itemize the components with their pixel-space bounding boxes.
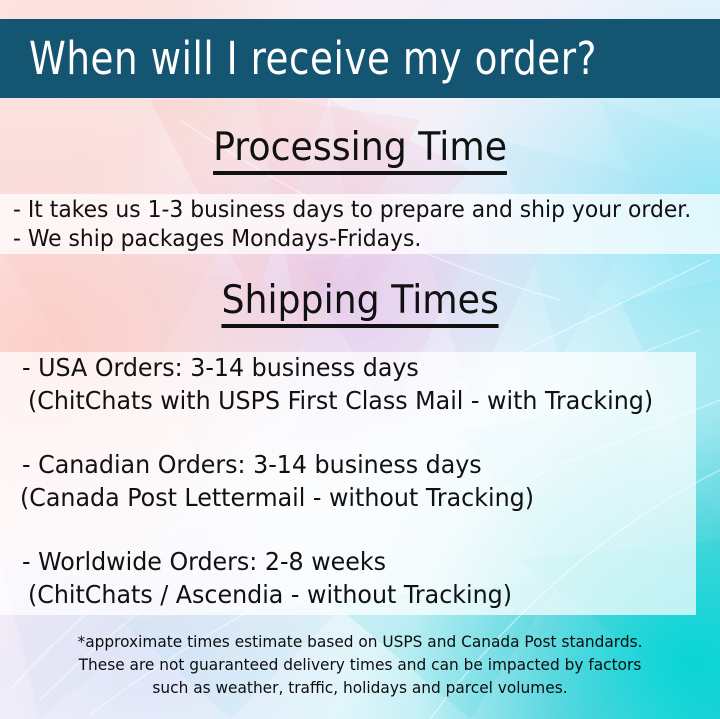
shipping-info-graphic: When will I receive my order? Processing… bbox=[0, 0, 720, 719]
shipping-canada-title: - Canadian Orders: 3-14 business days bbox=[22, 452, 482, 477]
footer-disclaimer: *approximate times estimate based on USP… bbox=[0, 630, 720, 699]
section-heading-processing-time: Processing Time bbox=[0, 128, 720, 175]
processing-time-line-1: - It takes us 1-3 business days to prepa… bbox=[13, 199, 691, 222]
footer-disclaimer-line-2: These are not guaranteed delivery times … bbox=[14, 653, 705, 676]
shipping-usa-detail: (ChitChats with USPS First Class Mail - … bbox=[28, 388, 653, 413]
shipping-usa-title: - USA Orders: 3-14 business days bbox=[22, 355, 419, 380]
header-banner: When will I receive my order? bbox=[0, 19, 720, 98]
section-heading-processing-time-label: Processing Time bbox=[213, 128, 507, 175]
section-heading-shipping-times-label: Shipping Times bbox=[221, 281, 498, 328]
processing-time-line-2: - We ship packages Mondays-Fridays. bbox=[13, 228, 421, 251]
footer-disclaimer-line-3: such as weather, traffic, holidays and p… bbox=[14, 676, 705, 699]
footer-disclaimer-line-1: *approximate times estimate based on USP… bbox=[14, 630, 705, 653]
section-heading-shipping-times: Shipping Times bbox=[0, 281, 720, 328]
page-title: When will I receive my order? bbox=[29, 36, 597, 81]
shipping-worldwide-title: - Worldwide Orders: 2-8 weeks bbox=[22, 549, 386, 574]
shipping-worldwide-detail: (ChitChats / Ascendia - without Tracking… bbox=[28, 582, 512, 607]
shipping-canada-detail: (Canada Post Lettermail - without Tracki… bbox=[20, 485, 534, 510]
